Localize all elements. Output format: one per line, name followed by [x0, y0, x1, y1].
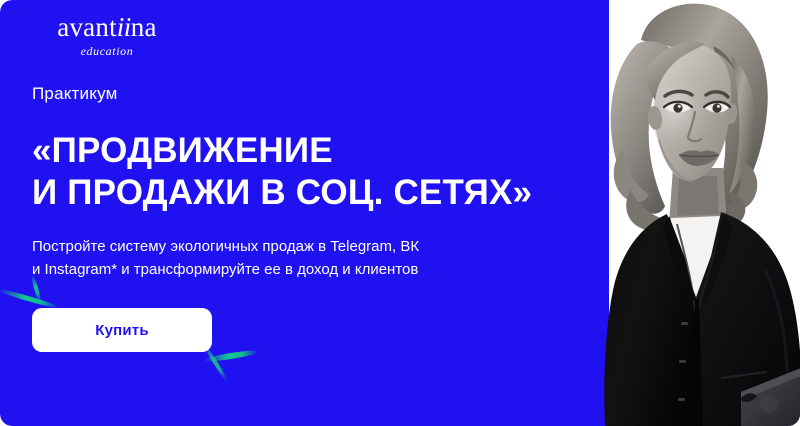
- buy-button[interactable]: Купить: [32, 308, 212, 352]
- hero-headline: «ПРОДВИЖЕНИЕ И ПРОДАЖИ В СОЦ. СЕТЯХ»: [32, 130, 577, 213]
- hero-description-line-1: Постройте систему экологичных продаж в T…: [32, 235, 577, 258]
- hero-description: Постройте систему экологичных продаж в T…: [32, 235, 577, 282]
- brand-logo-tagline: education: [32, 45, 182, 57]
- brand-logo-wordmark: avantiina: [32, 14, 182, 41]
- hero-eyebrow: Практикум: [32, 84, 577, 104]
- teal-streak-icon: [0, 287, 59, 309]
- brand-logo[interactable]: avantiina education: [32, 14, 182, 57]
- hero-headline-line-1: «ПРОДВИЖЕНИЕ: [32, 130, 577, 171]
- photo-pane: [609, 0, 800, 426]
- brand-logo-word-italic-ii: ii: [117, 12, 131, 42]
- hero-copy: Практикум «ПРОДВИЖЕНИЕ И ПРОДАЖИ В СОЦ. …: [32, 84, 577, 281]
- blue-content-panel: avantiina education Практикум «ПРОДВИЖЕН…: [0, 0, 609, 426]
- hero-headline-line-2: И ПРОДАЖИ В СОЦ. СЕТЯХ»: [32, 172, 577, 213]
- promo-banner: avantiina education Практикум «ПРОДВИЖЕН…: [0, 0, 800, 426]
- brand-logo-word-part2: na: [131, 12, 157, 42]
- teal-streak-icon: [203, 349, 259, 364]
- brand-logo-word-part1: avant: [57, 12, 116, 42]
- hero-description-line-2: и Instagram* и трансформируйте ее в дохо…: [32, 258, 577, 281]
